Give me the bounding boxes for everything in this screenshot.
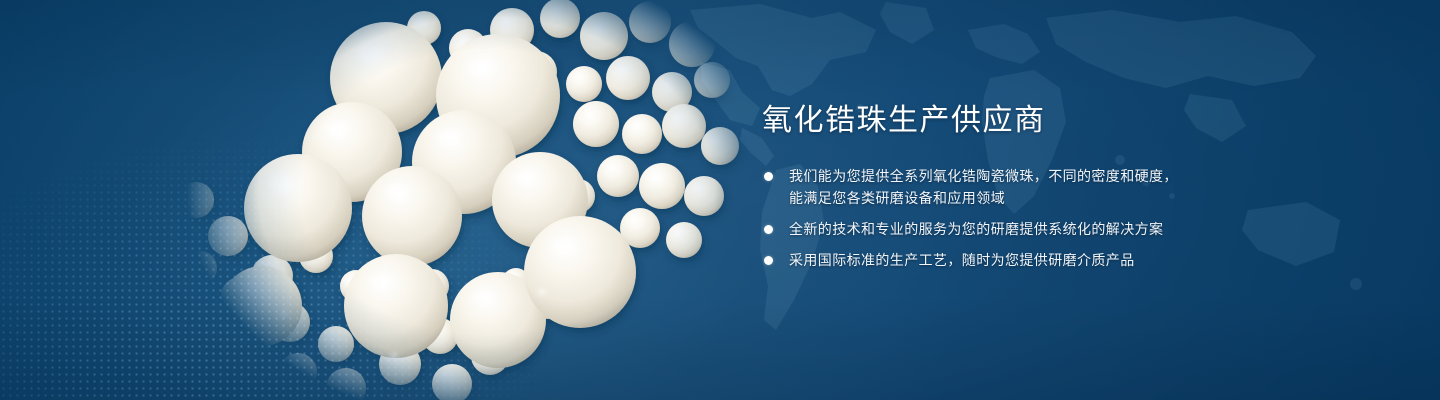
zirconia-beads-photo [0, 0, 760, 400]
list-item-line: 全新的技术和专业的服务为您的研磨提供系统化的解决方案 [789, 218, 1402, 240]
list-item-line: 我们能为您提供全系列氧化锆陶瓷微珠，不同的密度和硬度， [789, 165, 1402, 187]
list-item: 全新的技术和专业的服务为您的研磨提供系统化的解决方案 [762, 218, 1402, 240]
banner-copy: 氧化锆珠生产供应商 我们能为您提供全系列氧化锆陶瓷微珠，不同的密度和硬度， 能满… [762, 104, 1402, 271]
list-item-line: 能满足您各类研磨设备和应用领域 [789, 187, 1402, 209]
feature-list: 我们能为您提供全系列氧化锆陶瓷微珠，不同的密度和硬度， 能满足您各类研磨设备和应… [762, 165, 1402, 271]
list-item-line: 采用国际标准的生产工艺，随时为您提供研磨介质产品 [789, 249, 1402, 271]
page-title: 氧化锆珠生产供应商 [762, 104, 1402, 137]
bullet-dot-icon [764, 225, 773, 234]
list-item: 我们能为您提供全系列氧化锆陶瓷微珠，不同的密度和硬度， 能满足您各类研磨设备和应… [762, 165, 1402, 209]
bullet-dot-icon [764, 172, 773, 181]
list-item: 采用国际标准的生产工艺，随时为您提供研磨介质产品 [762, 249, 1402, 271]
bullet-dot-icon [764, 256, 773, 265]
hero-banner: 氧化锆珠生产供应商 我们能为您提供全系列氧化锆陶瓷微珠，不同的密度和硬度， 能满… [0, 0, 1440, 400]
